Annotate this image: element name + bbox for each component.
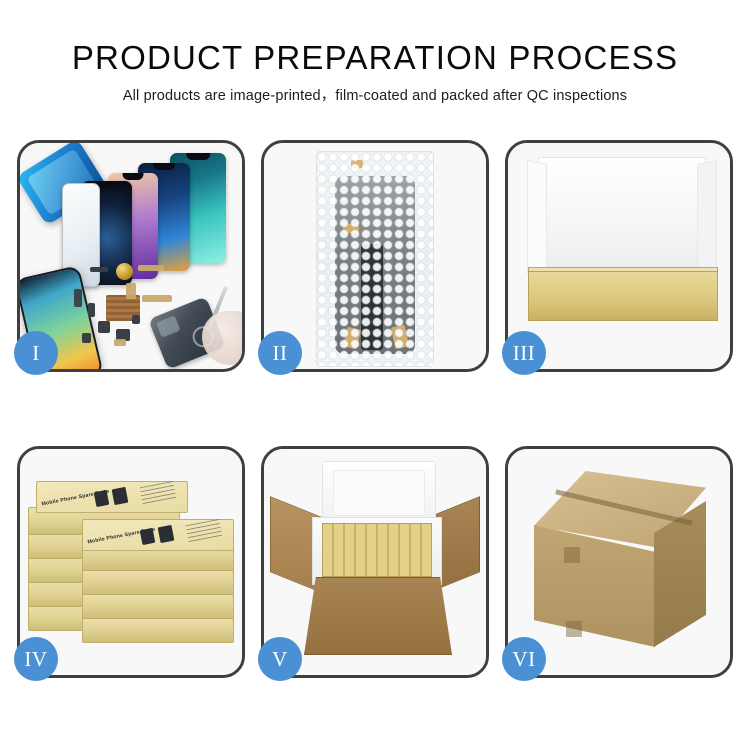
box-stack-icon: Mobile Phone Spare Parts Mobile Phone Sp… bbox=[28, 475, 240, 661]
page-subtitle: All products are image-printed，film-coat… bbox=[0, 78, 750, 106]
flex-cable-icon bbox=[114, 339, 126, 346]
packed-kraft-boxes-icon bbox=[322, 523, 432, 577]
step-number-badge: I bbox=[14, 331, 58, 375]
speaker-coil-part-icon bbox=[116, 263, 133, 280]
box-window-icon bbox=[112, 487, 129, 505]
chip-part-icon bbox=[132, 315, 140, 324]
chip-part-icon bbox=[88, 303, 95, 317]
carton-tab-icon bbox=[566, 621, 582, 637]
box-window-icon bbox=[94, 490, 110, 507]
process-step-1: I bbox=[17, 140, 245, 372]
foam-lid-icon bbox=[322, 461, 436, 525]
chip-part-icon bbox=[98, 321, 110, 333]
step-2-image bbox=[264, 143, 486, 369]
flex-cable-icon bbox=[138, 265, 164, 271]
step-3-image bbox=[508, 143, 730, 369]
foam-sheet-icon bbox=[538, 157, 706, 279]
chip-part-icon bbox=[82, 333, 91, 343]
step-number-badge: IV bbox=[14, 637, 58, 681]
bubble-wrap-bag-icon bbox=[316, 151, 434, 367]
process-step-2: II bbox=[261, 140, 489, 372]
stacked-box-top: Mobile Phone Spare Parts bbox=[82, 519, 234, 551]
page-title: PRODUCT PREPARATION PROCESS bbox=[0, 0, 750, 78]
process-step-3: III bbox=[505, 140, 733, 372]
stacked-box-top: Mobile Phone Spare Parts bbox=[36, 481, 188, 513]
box-spec-lines bbox=[140, 481, 177, 505]
product-preparation-infographic: PRODUCT PREPARATION PROCESS All products… bbox=[0, 0, 750, 750]
stacked-box bbox=[82, 591, 234, 619]
process-step-6: VI bbox=[505, 446, 733, 678]
chip-part-icon bbox=[90, 267, 108, 272]
step-6-image bbox=[508, 449, 730, 675]
step-1-image bbox=[20, 143, 242, 369]
box-window-icon bbox=[158, 525, 175, 543]
process-step-4: Mobile Phone Spare Parts Mobile Phone Sp… bbox=[17, 446, 245, 678]
box-spec-lines bbox=[186, 519, 223, 543]
step-number-badge: III bbox=[502, 331, 546, 375]
flex-cable-icon bbox=[74, 289, 82, 307]
header: PRODUCT PREPARATION PROCESS All products… bbox=[0, 0, 750, 106]
step-5-image bbox=[264, 449, 486, 675]
flex-cable-icon bbox=[126, 283, 136, 299]
process-step-grid: I II bbox=[17, 140, 733, 678]
step-number-badge: V bbox=[258, 637, 302, 681]
stacked-box bbox=[82, 615, 234, 643]
step-4-image: Mobile Phone Spare Parts Mobile Phone Sp… bbox=[20, 449, 242, 675]
process-step-5: V bbox=[261, 446, 489, 678]
stacked-box bbox=[82, 567, 234, 595]
step-number-badge: II bbox=[258, 331, 302, 375]
hand-icon bbox=[202, 311, 242, 365]
carton-tab-icon bbox=[564, 547, 580, 563]
carton-body-icon bbox=[304, 577, 452, 655]
open-kraft-box-icon bbox=[528, 271, 718, 321]
box-window-icon bbox=[140, 528, 156, 545]
bubble-texture bbox=[317, 152, 433, 366]
step-number-badge: VI bbox=[502, 637, 546, 681]
flex-cable-icon bbox=[142, 295, 172, 302]
